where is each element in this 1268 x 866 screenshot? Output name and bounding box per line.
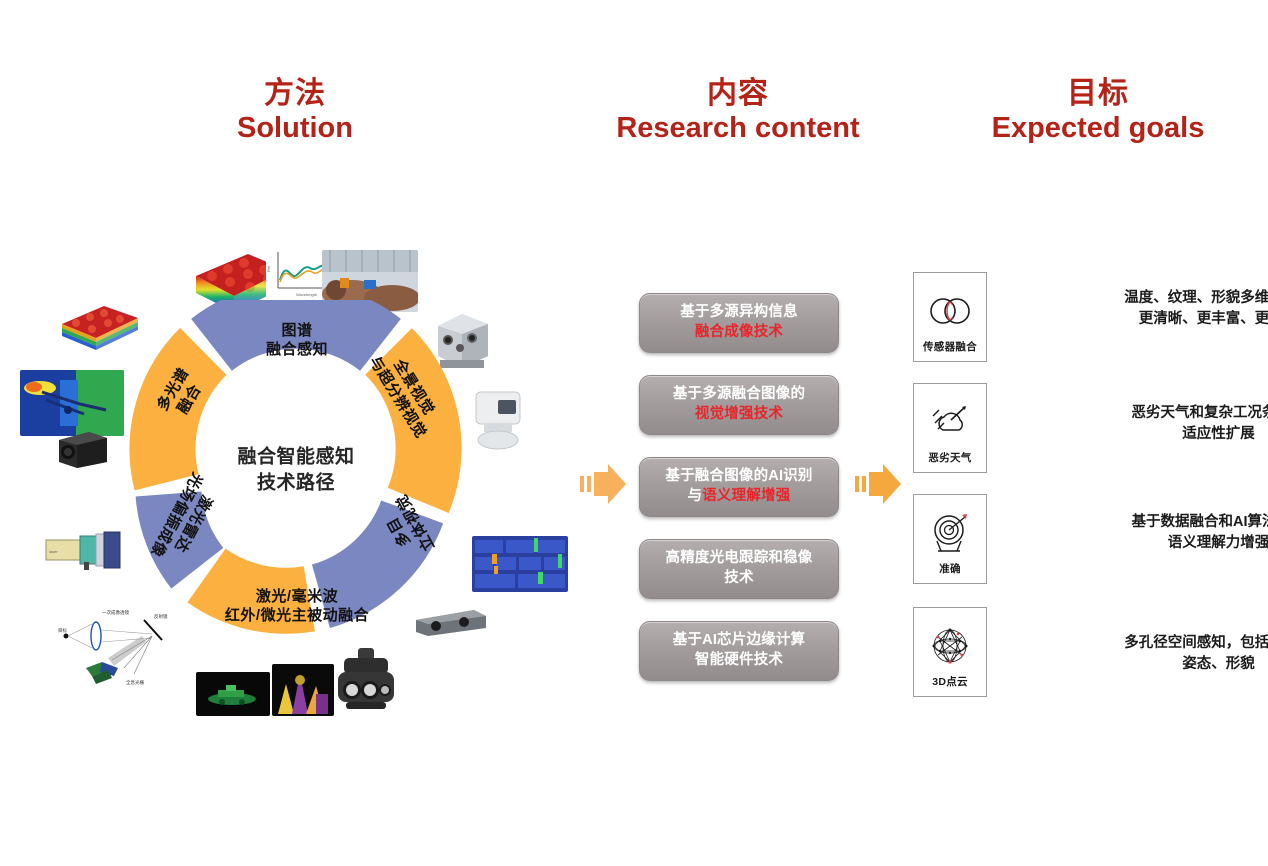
goal-caption: 准确 xyxy=(939,561,961,576)
header-goals-cn: 目标 xyxy=(948,76,1248,111)
diagram-canvas: 方法 Solution 内容 Research content 目标 Expec… xyxy=(0,0,1268,866)
pill-line-2: 智能硬件技术 xyxy=(673,651,806,671)
column-header-solution: 方法 Solution xyxy=(155,76,435,146)
expected-goal-row: 恶劣天气 恶劣天气和复杂工况条件下 适应性扩展 xyxy=(913,383,1268,473)
goal-card[interactable]: 恶劣天气 xyxy=(913,383,987,473)
pill-line-1: 高精度光电跟踪和稳像 xyxy=(666,549,813,569)
header-solution-en: Solution xyxy=(155,111,435,146)
pill-line-2: 技术 xyxy=(666,569,813,589)
pill-line-2-prefix: 与 xyxy=(688,488,703,504)
pill-line-1: 基于融合图像的AI识别 xyxy=(665,467,812,487)
goal-caption: 恶劣天气 xyxy=(928,450,971,465)
bad-weather-icon xyxy=(929,393,971,450)
laser-device-thumb: laser xyxy=(44,528,130,572)
svg-text:Wavelength: Wavelength xyxy=(296,292,317,297)
spectrum-plot-thumb: Ref Wavelength xyxy=(266,246,328,300)
ring-label-laser-infrared: 激光/毫米波 红外/微光主被动融合 xyxy=(176,588,418,626)
header-content-en: Research content xyxy=(598,111,878,146)
expected-goal-row: 准确 基于数据融合和AI算法全面 语义理解力增强 xyxy=(913,494,1268,584)
ptz-camera-thumb xyxy=(470,388,526,450)
goal-card[interactable]: 准确 xyxy=(913,494,987,584)
goal-description: 多孔径空间感知，包括位置、 姿态、形貌 xyxy=(1091,633,1268,675)
expected-goal-row: 3D点云 多孔径空间感知，包括位置、 姿态、形貌 xyxy=(913,607,1268,697)
column-header-content: 内容 Research content xyxy=(598,76,878,146)
ring-label-atlas-fusion: 图谱 融合感知 xyxy=(222,322,372,360)
goal-card[interactable]: 传感器融合 xyxy=(913,272,987,362)
fusion-technology-donut: 图谱 融合感知 全景视觉 与超分辨视觉 多目 立体视觉 激光/毫米波 红外/微光… xyxy=(126,300,466,640)
pill-line-1: 基于AI芯片边缘计算 xyxy=(673,631,806,651)
goal-caption: 3D点云 xyxy=(932,674,968,689)
donut-center-title: 融合智能感知 技术路径 xyxy=(201,444,391,495)
research-content-item[interactable]: 基于多源融合图像的 视觉增强技术 xyxy=(639,375,839,435)
pill-line-1: 基于多源异构信息 xyxy=(680,303,798,323)
svg-text:目标: 目标 xyxy=(58,627,67,634)
blue-heatmap-thumb xyxy=(472,536,568,592)
svg-text:Ref: Ref xyxy=(266,265,271,272)
right-arrow-icon xyxy=(576,458,628,510)
column-header-goals: 目标 Expected goals xyxy=(948,76,1248,146)
header-solution-cn: 方法 xyxy=(155,76,435,111)
night-vision-thumb xyxy=(196,672,270,716)
camera-module-thumb xyxy=(55,428,111,470)
research-content-item[interactable]: 基于AI芯片边缘计算 智能硬件技术 xyxy=(639,621,839,681)
research-content-item[interactable]: 基于多源异构信息 融合成像技术 xyxy=(639,293,839,353)
gimbal-turret-thumb xyxy=(330,646,402,720)
infrared-scene-thumb xyxy=(272,664,334,716)
svg-text:全息光栅: 全息光栅 xyxy=(126,679,144,686)
expected-goal-row: 传感器融合 温度、纹理、形貌多维融合， 更清晰、更丰富、更可靠 xyxy=(913,272,1268,362)
target-accuracy-icon xyxy=(929,504,971,561)
research-content-item[interactable]: 基于融合图像的AI识别 与语义理解增强 xyxy=(639,457,839,517)
right-arrow-icon xyxy=(851,458,903,510)
goal-card[interactable]: 3D点云 xyxy=(913,607,987,697)
pill-line-2: 融合成像技术 xyxy=(680,323,798,343)
goal-description: 温度、纹理、形貌多维融合， 更清晰、更丰富、更可靠 xyxy=(1091,288,1268,330)
header-content-cn: 内容 xyxy=(598,76,878,111)
sensor-fusion-icon xyxy=(927,282,973,339)
point-cloud-icon xyxy=(928,617,972,674)
research-content-item[interactable]: 高精度光电跟踪和稳像 技术 xyxy=(639,539,839,599)
goal-description: 恶劣天气和复杂工况条件下 适应性扩展 xyxy=(1091,403,1268,445)
thermal-image-thumb xyxy=(20,370,124,436)
svg-text:laser: laser xyxy=(49,549,58,554)
goal-description: 基于数据融合和AI算法全面 语义理解力增强 xyxy=(1091,512,1268,554)
goal-caption: 传感器融合 xyxy=(923,339,977,354)
header-goals-en: Expected goals xyxy=(948,111,1248,146)
pill-line-1: 基于多源融合图像的 xyxy=(673,385,805,405)
pill-line-2: 语义理解增强 xyxy=(702,488,790,504)
pill-line-2: 视觉增强技术 xyxy=(673,405,805,425)
